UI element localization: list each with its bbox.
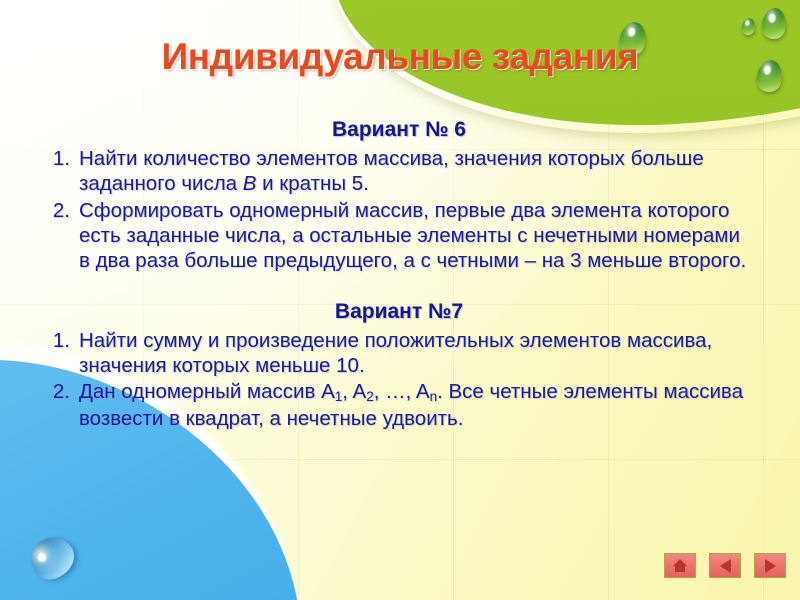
task-mid-2: , …, A bbox=[374, 380, 430, 403]
task-prefix: Дан одномерный массив A bbox=[79, 380, 335, 403]
task-text: Найти количество элементов массива, знач… bbox=[79, 146, 752, 197]
task-number: 2. bbox=[46, 379, 79, 404]
task-number: 2. bbox=[46, 198, 79, 223]
task-item: 1. Найти сумму и произведение положитель… bbox=[46, 328, 752, 379]
task-mid-1: , A bbox=[342, 380, 366, 403]
home-button[interactable] bbox=[664, 553, 696, 578]
slide-navigation-bar bbox=[664, 553, 786, 578]
home-icon bbox=[673, 559, 687, 572]
task-text: Дан одномерный массив A1, A2, …, An. Все… bbox=[79, 379, 752, 431]
next-slide-button[interactable] bbox=[754, 553, 786, 578]
array-subscript-2: 2 bbox=[366, 389, 374, 404]
task-number: 1. bbox=[46, 328, 79, 353]
task-text: Сформировать одномерный массив, первые д… bbox=[79, 198, 752, 274]
presentation-slide: Индивидуальные задания Вариант № 6 1. На… bbox=[0, 0, 800, 600]
previous-slide-button[interactable] bbox=[709, 553, 741, 578]
task-item: 2. Сформировать одномерный массив, первы… bbox=[46, 198, 752, 274]
task-item: 1. Найти количество элементов массива, з… bbox=[46, 146, 752, 197]
arrow-left-icon bbox=[720, 559, 731, 573]
variant-heading-1: Вариант № 6 bbox=[46, 118, 752, 142]
task-number: 1. bbox=[46, 146, 79, 171]
array-subscript-n: n bbox=[430, 389, 438, 404]
slide-title: Индивидуальные задания bbox=[0, 36, 800, 78]
arrow-right-icon bbox=[765, 559, 776, 573]
task-list-variant-6: 1. Найти количество элементов массива, з… bbox=[46, 146, 752, 274]
task-text: Найти сумму и произведение положительных… bbox=[79, 328, 752, 379]
task-list-variant-7: 1. Найти сумму и произведение положитель… bbox=[46, 328, 752, 432]
variant-heading-2: Вариант №7 bbox=[46, 300, 752, 324]
task-variable: B bbox=[243, 172, 257, 195]
task-text-before: Найти количество элементов массива, знач… bbox=[79, 147, 704, 195]
slide-content: Вариант № 6 1. Найти количество элементо… bbox=[46, 118, 752, 432]
task-text-after: и кратны 5. bbox=[256, 172, 368, 195]
task-item: 2. Дан одномерный массив A1, A2, …, An. … bbox=[46, 379, 752, 431]
